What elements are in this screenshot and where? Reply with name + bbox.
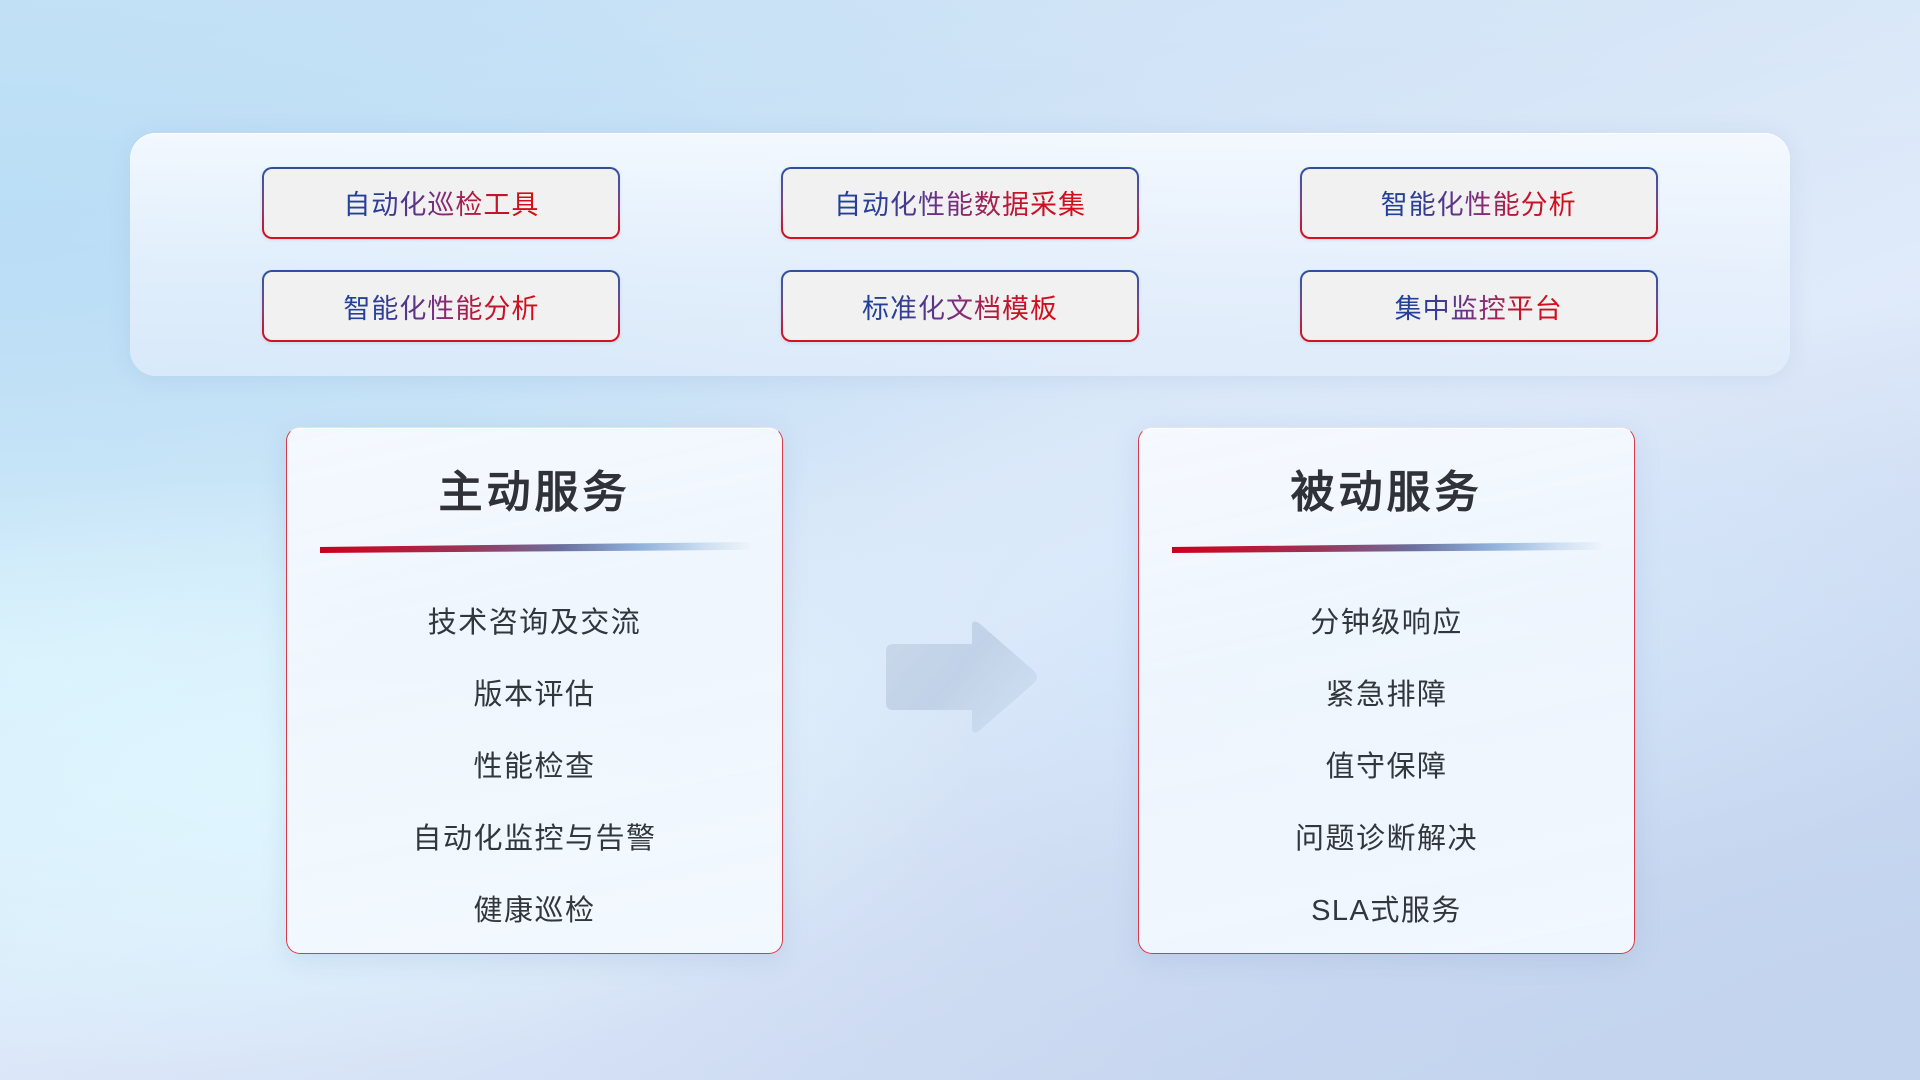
service-card-active: 主动服务 技术咨询及交流 版本评估 性能检查 自动化监控与告警 健康巡检 — [286, 427, 783, 954]
capability-chip[interactable]: 智能化性能分析 — [262, 270, 620, 342]
card-item-list: 分钟级响应 紧急排障 值守保障 问题诊断解决 SLA式服务 — [1139, 587, 1634, 947]
card-title: 主动服务 — [439, 456, 631, 520]
capability-chips-panel: 自动化巡检工具 自动化性能数据采集 智能化性能分析 智能化性能分析 标准化文档模… — [130, 133, 1790, 376]
list-item: 技术咨询及交流 — [428, 587, 642, 659]
right-arrow-icon — [880, 619, 1040, 736]
capability-chip-label: 智能化性能分析 — [343, 287, 539, 326]
capability-chip[interactable]: 自动化性能数据采集 — [781, 167, 1139, 239]
list-item: 值守保障 — [1325, 731, 1447, 803]
capability-chip-label: 自动化巡检工具 — [343, 183, 539, 222]
list-item: 紧急排障 — [1325, 659, 1447, 731]
list-item: 版本评估 — [473, 659, 595, 731]
service-card-passive: 被动服务 分钟级响应 紧急排障 值守保障 问题诊断解决 SLA式服务 — [1138, 427, 1635, 954]
list-item: 健康巡检 — [473, 875, 595, 947]
list-item: 性能检查 — [473, 731, 595, 803]
capability-chip-label: 集中监控平台 — [1395, 287, 1563, 326]
list-item: 问题诊断解决 — [1295, 803, 1478, 875]
list-item: SLA式服务 — [1311, 875, 1462, 947]
capability-chip[interactable]: 标准化文档模板 — [781, 270, 1139, 342]
card-divider — [320, 542, 750, 553]
capability-chip-label: 自动化性能数据采集 — [834, 183, 1086, 222]
list-item: 分钟级响应 — [1310, 587, 1463, 659]
card-title: 被动服务 — [1291, 456, 1483, 520]
capability-chip[interactable]: 集中监控平台 — [1300, 270, 1658, 342]
card-divider — [1172, 542, 1602, 553]
capability-chip[interactable]: 智能化性能分析 — [1300, 167, 1658, 239]
card-item-list: 技术咨询及交流 版本评估 性能检查 自动化监控与告警 健康巡检 — [287, 587, 782, 947]
list-item: 自动化监控与告警 — [412, 803, 656, 875]
capability-chip-label: 智能化性能分析 — [1381, 183, 1577, 222]
capability-chip[interactable]: 自动化巡检工具 — [262, 167, 620, 239]
capability-chip-label: 标准化文档模板 — [862, 287, 1058, 326]
